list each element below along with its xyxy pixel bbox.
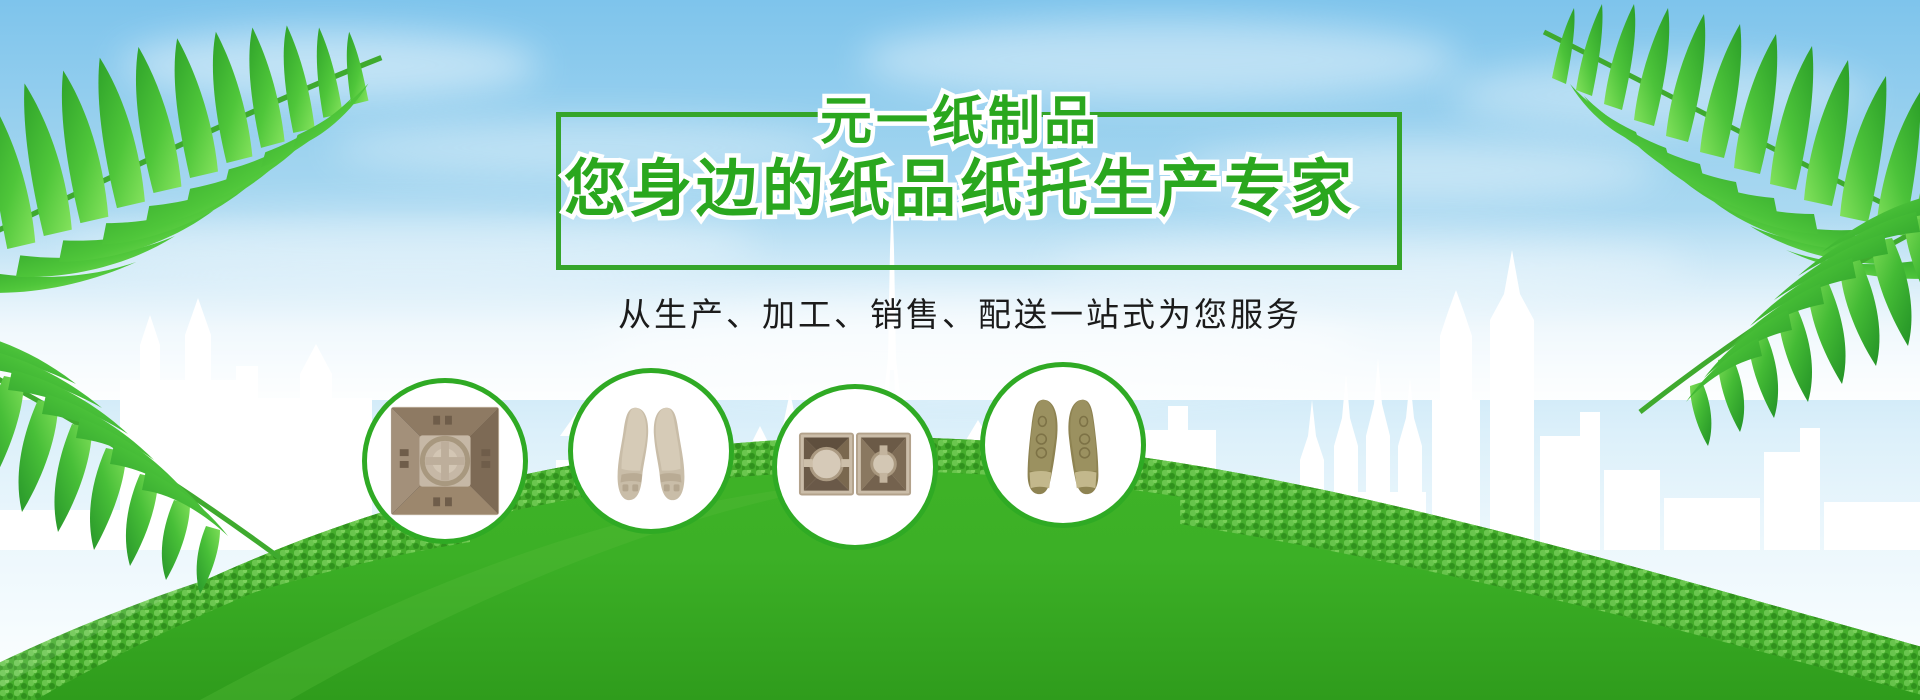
cloud-icon xyxy=(1050,235,1690,295)
cloud-icon xyxy=(120,30,540,100)
paper-pulp-packaging-tray-pair-icon xyxy=(796,408,914,526)
palm-leaf-icon xyxy=(0,300,290,600)
paper-pulp-square-tray-icon xyxy=(386,402,504,520)
product-circle-3[interactable] xyxy=(772,384,938,550)
product-circle-list xyxy=(0,340,1920,700)
hero-banner: 元一纸制品 您身边的纸品纸托生产专家 从生产、加工、销售、配送一站式为您服务 xyxy=(0,0,1920,700)
cloud-icon xyxy=(860,20,1460,100)
product-circle-4[interactable] xyxy=(980,362,1146,528)
paper-pulp-shoe-insert-icon xyxy=(1004,386,1122,504)
banner-subtitle: 从生产、加工、销售、配送一站式为您服务 xyxy=(0,288,1920,336)
headline-line-2: 您身边的纸品纸托生产专家 xyxy=(0,158,1920,220)
paper-pulp-shoe-tree-icon xyxy=(592,392,710,510)
green-hill-shape xyxy=(0,280,1920,700)
product-circle-2[interactable] xyxy=(568,368,734,534)
product-circle-1[interactable] xyxy=(362,378,528,544)
headline-line-1: 元一纸制品 xyxy=(0,96,1920,148)
headline-block: 元一纸制品 您身边的纸品纸托生产专家 xyxy=(0,96,1920,220)
